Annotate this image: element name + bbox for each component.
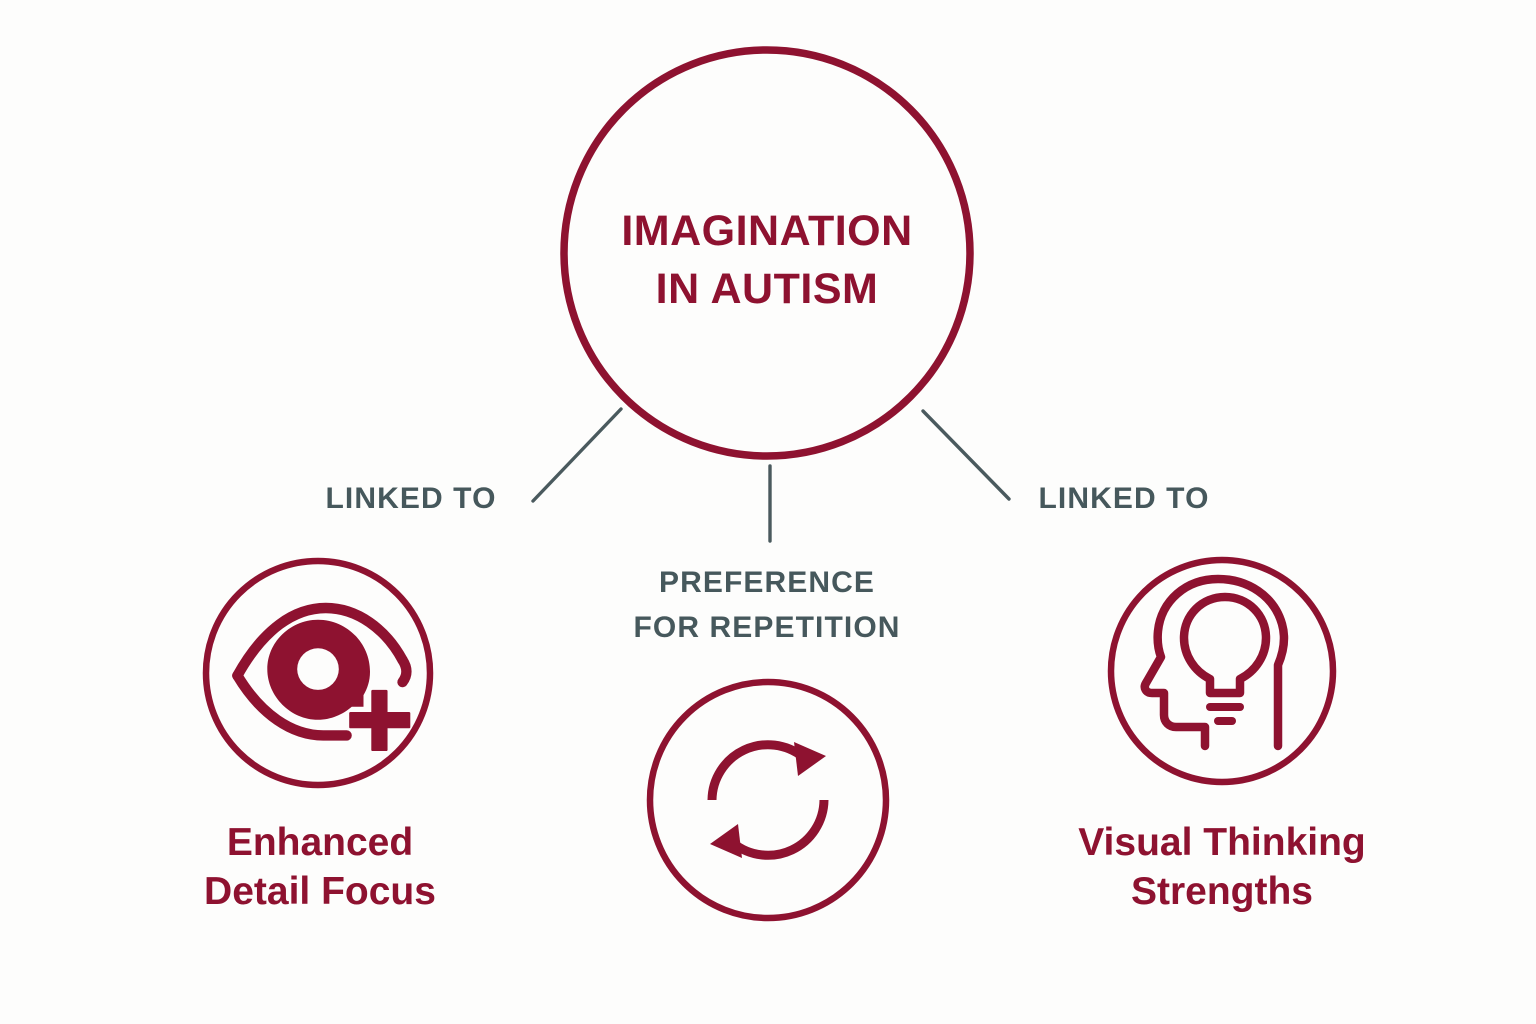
connector-lines [533, 409, 1009, 541]
connector-line-right [923, 411, 1009, 499]
branch-node-preference-for-repetition[interactable] [650, 682, 886, 918]
repeat-cycle-icon [710, 742, 826, 858]
edge-label-center-line2: FOR REPETITION [633, 611, 900, 644]
branch-label-left-line2: Detail Focus [204, 870, 436, 913]
branch-node-visual-thinking-strengths[interactable] [1111, 560, 1333, 782]
edge-labels: LINKED TO PREFERENCE FOR REPETITION LINK… [325, 482, 1209, 644]
branch-labels: Enhanced Detail Focus Visual Thinking St… [204, 821, 1366, 913]
hub-title-line1: IMAGINATION [621, 207, 912, 255]
edge-label-left: LINKED TO [325, 482, 496, 515]
head-lightbulb-icon [1145, 579, 1284, 746]
eye-plus-icon [237, 608, 410, 751]
branch-label-right-line2: Strengths [1131, 870, 1313, 913]
edge-label-center-line1: PREFERENCE [659, 566, 875, 599]
connector-line-left [533, 409, 621, 501]
concept-diagram: IMAGINATION IN AUTISM LINKED TO PREFEREN… [0, 0, 1536, 1024]
diagram-canvas: IMAGINATION IN AUTISM LINKED TO PREFEREN… [0, 0, 1536, 1024]
branch-node-enhanced-detail-focus[interactable] [206, 561, 430, 785]
hub-node[interactable]: IMAGINATION IN AUTISM [564, 50, 970, 456]
branch-label-right-line1: Visual Thinking [1078, 821, 1366, 864]
branch-label-left-line1: Enhanced [227, 821, 413, 864]
edge-label-right: LINKED TO [1038, 482, 1209, 515]
branch-circle-center [650, 682, 886, 918]
hub-title-line2: IN AUTISM [656, 265, 879, 313]
